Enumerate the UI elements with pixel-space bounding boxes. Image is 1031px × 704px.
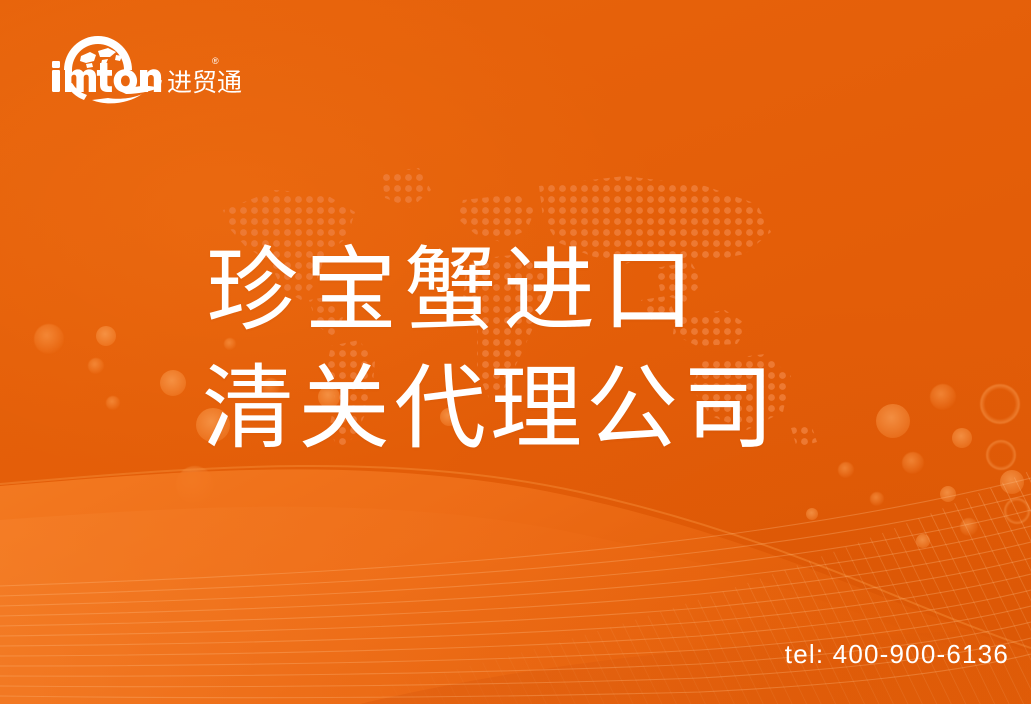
banner-canvas: 进贸通 ® 珍宝蟹进口 清关代理公司 tel: 400-900-6136	[0, 0, 1031, 704]
imton-logo[interactable]: 进贸通 ®	[36, 30, 222, 104]
page-title: 珍宝蟹进口 清关代理公司	[206, 232, 906, 468]
headline-line-1: 珍宝蟹进口	[206, 232, 906, 350]
trademark-icon: ®	[212, 56, 219, 66]
contact-phone[interactable]: tel: 400-900-6136	[785, 639, 1009, 670]
globe-arc-icon	[64, 36, 132, 71]
headline-line-2: 清关代理公司	[202, 350, 906, 468]
logo-chinese-name: 进贸通	[167, 68, 242, 97]
